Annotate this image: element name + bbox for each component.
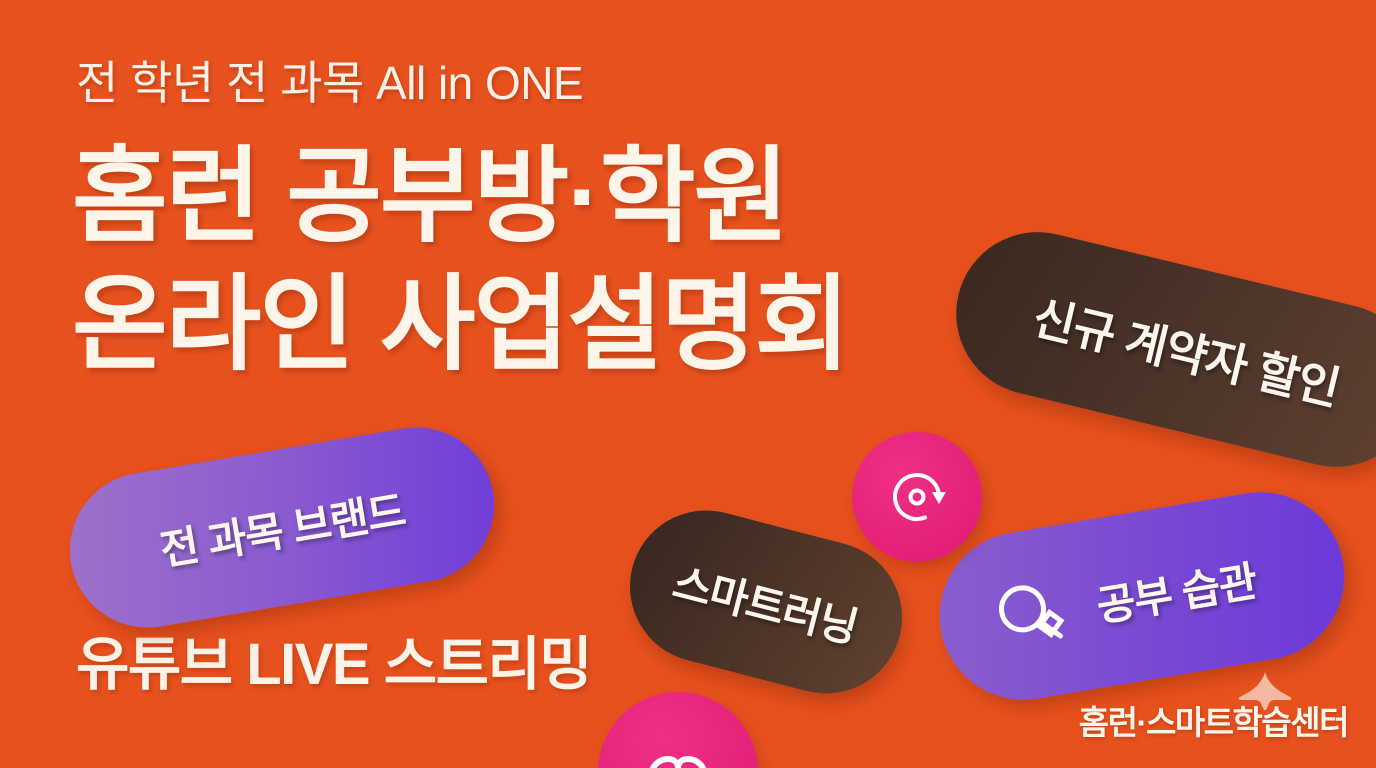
refresh-arrow-icon [882, 462, 952, 532]
headline-line-2: 온라인 사업설명회 [72, 273, 848, 377]
pill-label-smart: 스마트러닝 [667, 549, 864, 655]
pill-all-subject-brand[interactable]: 전 과목 브랜드 [58, 416, 506, 640]
pill-label-habit: 공부 습관 [1092, 547, 1261, 634]
logo-text: 홈런·스마트학습센터 [1079, 696, 1348, 744]
pill-label-brand: 전 과목 브랜드 [155, 477, 409, 578]
headline-line-1: 홈런 공부방·학원 [72, 145, 787, 249]
eyebrow-text: 전 학년 전 과목 All in ONE [76, 47, 583, 113]
live-streaming-text: 유튜브 LIVE 스트리밍 [76, 617, 591, 701]
heart-icon [635, 716, 721, 768]
circle-badge-heart [598, 692, 758, 768]
brand-logo: 홈런·스마트학습센터 [1048, 670, 1348, 750]
magnifier-icon [988, 572, 1073, 657]
circle-badge-refresh [852, 432, 982, 562]
pill-new-contract-discount[interactable]: 신규 계약자 할인 [939, 215, 1376, 483]
promo-banner: 전 학년 전 과목 All in ONE 홈런 공부방·학원 온라인 사업설명회… [0, 0, 1376, 768]
pill-label-discount: 신규 계약자 할인 [1027, 281, 1347, 418]
